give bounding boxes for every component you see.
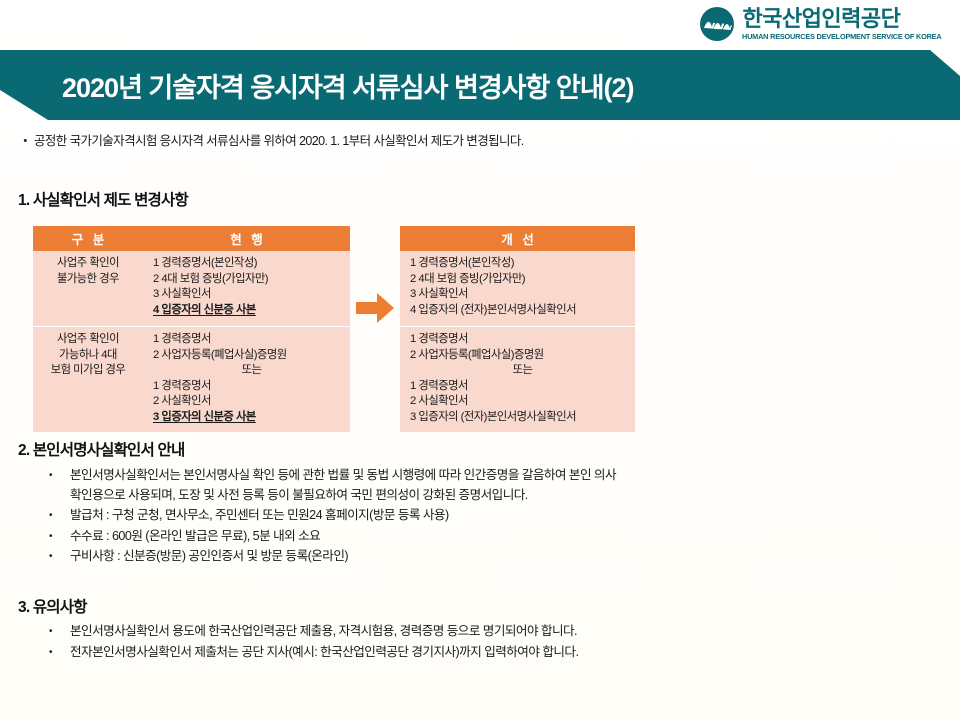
table-row: 1 경력증명서(본인작성) 2 4대 보험 증빙(가입자만) 3 사실확인서 4… <box>400 251 635 327</box>
item-line: 1 경력증명서(본인작성) <box>410 257 514 269</box>
comparison-block: 구 분 현 행 사업주 확인이 불가능한 경우 1 경력증명서(본인작성) 2 … <box>33 226 653 432</box>
list-item-text: 본인서명사실확인서 용도에 한국산업인력공단 제출용, 자격시험용, 경력증명 … <box>70 622 930 642</box>
item-line: 3 사실확인서 <box>410 288 468 300</box>
kind-line-2: 불가능한 경우 <box>57 273 119 285</box>
item-line: 1 경력증명서 <box>410 333 468 345</box>
slide-canvas: 한국산업인력공단 HUMAN RESOURCES DEVELOPMENT SER… <box>0 0 960 720</box>
table-row: 사업주 확인이 불가능한 경우 1 경력증명서(본인작성) 2 4대 보험 증빙… <box>33 251 350 327</box>
list-item: • 전자본인서명사실확인서 제출처는 공단 지사(예시: 한국산업인력공단 경기… <box>40 643 930 663</box>
right-arrow-icon <box>350 226 400 323</box>
page-title: 2020년 기술자격 응시자격 서류심사 변경사항 안내(2) <box>62 66 634 105</box>
items-divider: 또는 <box>153 363 350 379</box>
list-item: • 본인서명사실확인서는 본인서명사실 확인 등에 관한 법률 및 동법 시행령… <box>40 466 930 505</box>
item-line-emphasized: 4 입증자의 신분증 사본 <box>153 304 256 316</box>
bullet-dot-icon: • <box>40 506 70 526</box>
bullet-dot-icon: • <box>40 527 70 547</box>
item-line: 2 사업자등록(폐업사실)증명원 <box>153 349 287 361</box>
list-item-text: 본인서명사실확인서는 본인서명사실 확인 등에 관한 법률 및 동법 시행령에 … <box>70 466 930 505</box>
list-item: • 구비사항 : 신분증(방문) 공인인증서 및 방문 등록(온라인) <box>40 547 930 567</box>
item-line: 3 입증자의 (전자)본인서명사실확인서 <box>410 411 576 423</box>
table-header-row: 개 선 <box>400 226 635 251</box>
cell-improved-items: 1 경력증명서 2 사업자등록(폐업사실)증명원 또는 1 경력증명서 2 사실… <box>400 327 635 432</box>
list-item-text: 전자본인서명사실확인서 제출처는 공단 지사(예시: 한국산업인력공단 경기지사… <box>70 643 930 663</box>
item-line: 1 경력증명서 <box>153 380 211 392</box>
title-banner: 2020년 기술자격 응시자격 서류심사 변경사항 안내(2) <box>0 50 960 120</box>
kind-line-2: 가능하나 4대 <box>59 349 117 361</box>
logo-english-name: HUMAN RESOURCES DEVELOPMENT SERVICE OF K… <box>742 33 941 40</box>
item-line: 4 입증자의 (전자)본인서명사실확인서 <box>410 304 576 316</box>
bullet-dot-icon: • <box>40 622 70 642</box>
list-item: • 본인서명사실확인서 용도에 한국산업인력공단 제출용, 자격시험용, 경력증… <box>40 622 930 642</box>
section-2-heading: 2. 본인서명사실확인서 안내 <box>18 438 184 460</box>
organization-logo: 한국산업인력공단 HUMAN RESOURCES DEVELOPMENT SER… <box>699 6 938 42</box>
section-2-bullet-list: • 본인서명사실확인서는 본인서명사실 확인 등에 관한 법률 및 동법 시행령… <box>40 466 930 568</box>
header-current: 현 행 <box>143 226 350 251</box>
item-line-emphasized: 3 입증자의 신분증 사본 <box>153 411 256 423</box>
cell-improved-items: 1 경력증명서(본인작성) 2 4대 보험 증빙(가입자만) 3 사실확인서 4… <box>400 251 635 327</box>
bullet-dot-icon: • <box>16 133 34 150</box>
hrdk-waves-icon <box>699 6 735 42</box>
item-line: 1 경력증명서 <box>153 333 211 345</box>
kind-line-3: 보험 미가입 경우 <box>51 364 126 376</box>
bullet-dot-icon: • <box>40 466 70 486</box>
item-line: 3 사실확인서 <box>153 288 211 300</box>
table-header-row: 구 분 현 행 <box>33 226 350 251</box>
item-line: 1 경력증명서(본인작성) <box>153 257 257 269</box>
kind-line-1: 사업주 확인이 <box>57 333 119 345</box>
cell-current-items: 1 경력증명서(본인작성) 2 4대 보험 증빙(가입자만) 3 사실확인서 4… <box>143 251 350 327</box>
table-row: 1 경력증명서 2 사업자등록(폐업사실)증명원 또는 1 경력증명서 2 사실… <box>400 327 635 432</box>
item-line: 2 사실확인서 <box>410 395 468 407</box>
item-line: 2 사실확인서 <box>153 395 211 407</box>
list-item-text: 발급처 : 구청 군청, 면사무소, 주민센터 또는 민원24 홈페이지(방문 … <box>70 506 930 526</box>
current-system-table: 구 분 현 행 사업주 확인이 불가능한 경우 1 경력증명서(본인작성) 2 … <box>33 226 350 432</box>
intro-text: 공정한 국가기술자격시험 응시자격 서류심사를 위하여 2020. 1. 1부터… <box>34 133 524 150</box>
text-line: 본인서명사실확인서는 본인서명사실 확인 등에 관한 법률 및 동법 시행령에 … <box>70 468 616 482</box>
item-line: 2 4대 보험 증빙(가입자만) <box>153 273 268 285</box>
improved-system-table: 개 선 1 경력증명서(본인작성) 2 4대 보험 증빙(가입자만) 3 사실확… <box>400 226 635 432</box>
logo-text: 한국산업인력공단 HUMAN RESOURCES DEVELOPMENT SER… <box>742 8 938 40</box>
intro-note: • 공정한 국가기술자격시험 응시자격 서류심사를 위하여 2020. 1. 1… <box>16 133 524 150</box>
header-improved: 개 선 <box>400 226 635 251</box>
header-kind: 구 분 <box>33 226 143 251</box>
section-3-bullet-list: • 본인서명사실확인서 용도에 한국산업인력공단 제출용, 자격시험용, 경력증… <box>40 622 930 663</box>
section-1-heading: 1. 사실확인서 제도 변경사항 <box>18 188 188 210</box>
item-line: 2 사업자등록(폐업사실)증명원 <box>410 349 544 361</box>
cell-kind: 사업주 확인이 가능하나 4대 보험 미가입 경우 <box>33 327 143 432</box>
item-line: 2 4대 보험 증빙(가입자만) <box>410 273 525 285</box>
list-item-text: 수수료 : 600원 (온라인 발급은 무료), 5분 내외 소요 <box>70 527 930 547</box>
list-item-text: 구비사항 : 신분증(방문) 공인인증서 및 방문 등록(온라인) <box>70 547 930 567</box>
bullet-dot-icon: • <box>40 643 70 663</box>
item-line: 1 경력증명서 <box>410 380 468 392</box>
list-item: • 수수료 : 600원 (온라인 발급은 무료), 5분 내외 소요 <box>40 527 930 547</box>
logo-korean-name: 한국산업인력공단 <box>742 8 938 30</box>
section-3-heading: 3. 유의사항 <box>18 595 87 617</box>
items-divider: 또는 <box>410 363 635 379</box>
list-item: • 발급처 : 구청 군청, 면사무소, 주민센터 또는 민원24 홈페이지(방… <box>40 506 930 526</box>
bullet-dot-icon: • <box>40 547 70 567</box>
kind-line-1: 사업주 확인이 <box>57 257 119 269</box>
table-row: 사업주 확인이 가능하나 4대 보험 미가입 경우 1 경력증명서 2 사업자등… <box>33 327 350 432</box>
text-line: 확인용으로 사용되며, 도장 및 사전 등록 등이 불필요하여 국민 편의성이 … <box>70 488 528 502</box>
cell-kind: 사업주 확인이 불가능한 경우 <box>33 251 143 327</box>
cell-current-items: 1 경력증명서 2 사업자등록(폐업사실)증명원 또는 1 경력증명서 2 사실… <box>143 327 350 432</box>
